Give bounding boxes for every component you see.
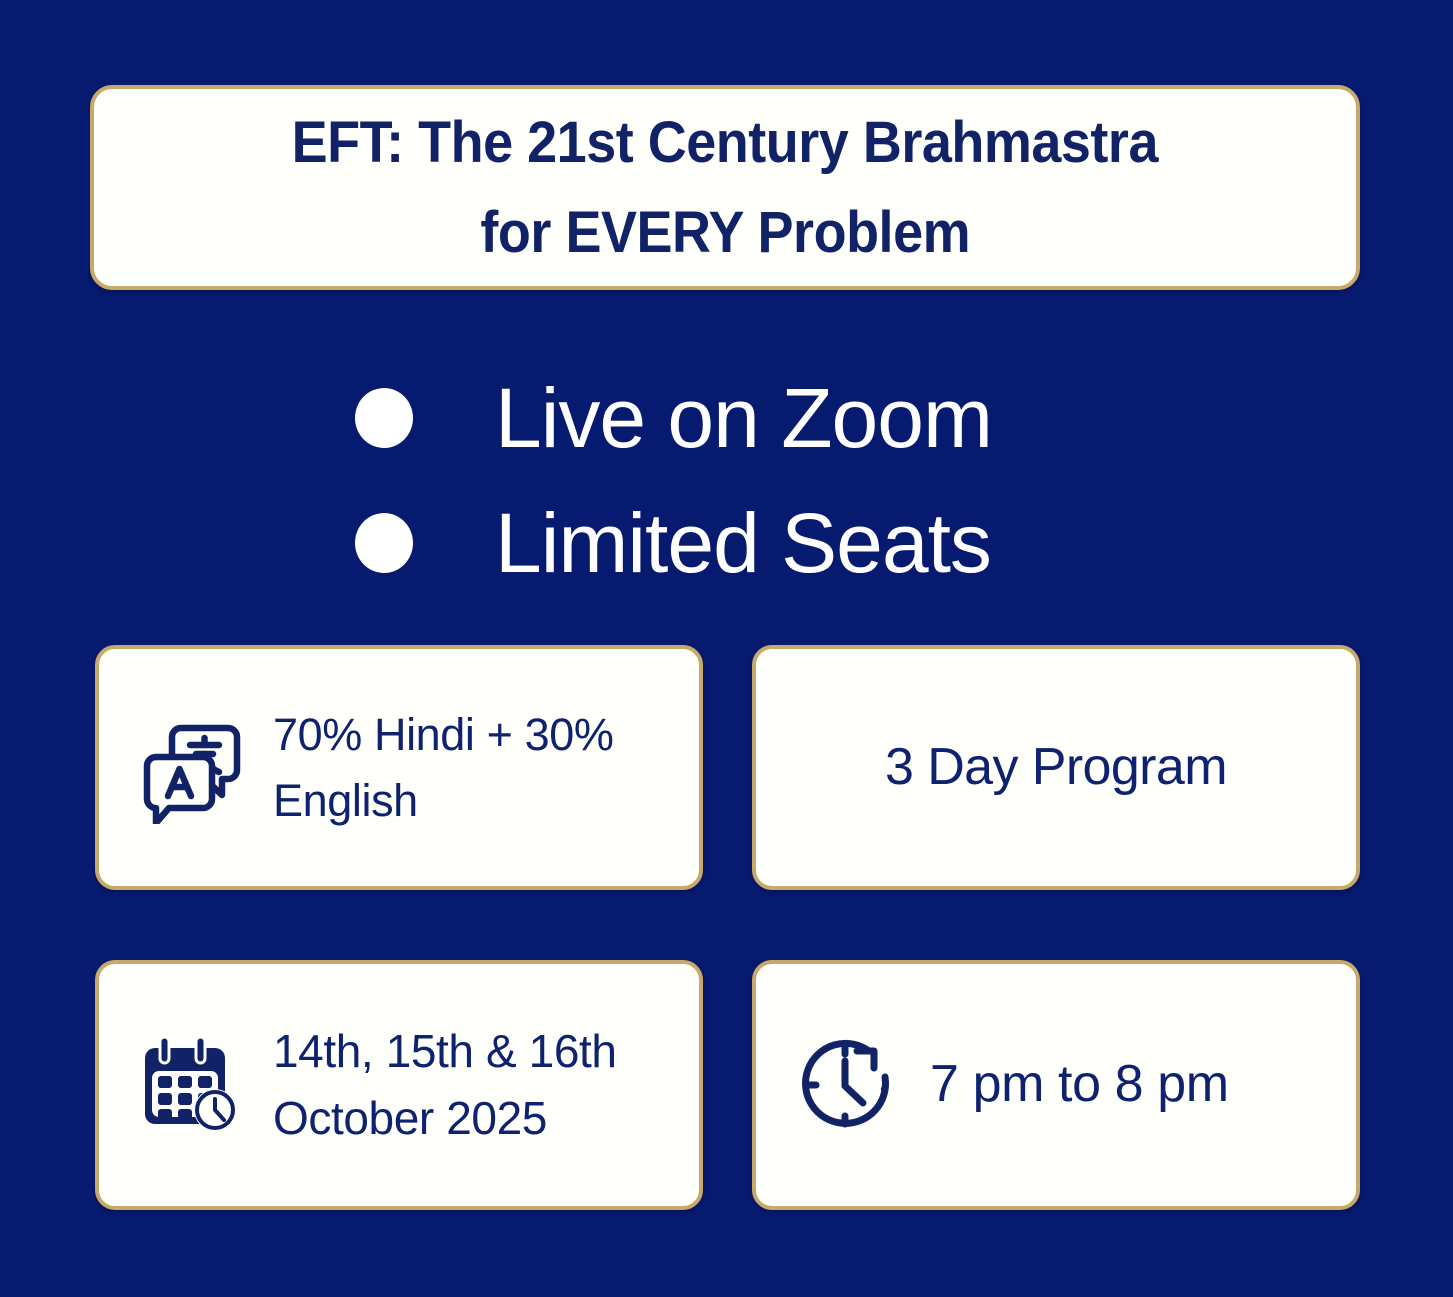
- highlight-bullet-list: Live on Zoom Limited Seats: [355, 355, 1115, 605]
- feature-card-dates: 14th, 15th & 16th October 2025: [95, 960, 703, 1210]
- bullet-label: Live on Zoom: [495, 376, 992, 460]
- feature-label-dates: 14th, 15th & 16th October 2025: [273, 1018, 665, 1151]
- list-item: Live on Zoom: [355, 355, 1115, 480]
- clock-arrow-icon: [790, 1026, 908, 1144]
- bullet-label: Limited Seats: [495, 501, 991, 585]
- feature-label-language: 70% Hindi + 30% English: [273, 702, 665, 833]
- promo-poster: EFT: The 21st Century Brahmastra for EVE…: [0, 0, 1453, 1297]
- bullet-dot-icon: [355, 513, 413, 573]
- page-title-line-2: for EVERY Problem: [480, 188, 970, 278]
- feature-card-time: 7 pm to 8 pm: [752, 960, 1360, 1210]
- translate-icon: [133, 709, 251, 827]
- title-card: EFT: The 21st Century Brahmastra for EVE…: [90, 85, 1360, 290]
- feature-label-duration: 3 Day Program: [885, 730, 1227, 805]
- feature-card-duration: 3 Day Program: [752, 645, 1360, 890]
- list-item: Limited Seats: [355, 480, 1115, 605]
- feature-label-time: 7 pm to 8 pm: [930, 1047, 1229, 1122]
- calendar-clock-icon: [133, 1026, 251, 1144]
- page-title-line-1: EFT: The 21st Century Brahmastra: [292, 98, 1158, 188]
- bullet-dot-icon: [355, 388, 413, 448]
- feature-card-language: 70% Hindi + 30% English: [95, 645, 703, 890]
